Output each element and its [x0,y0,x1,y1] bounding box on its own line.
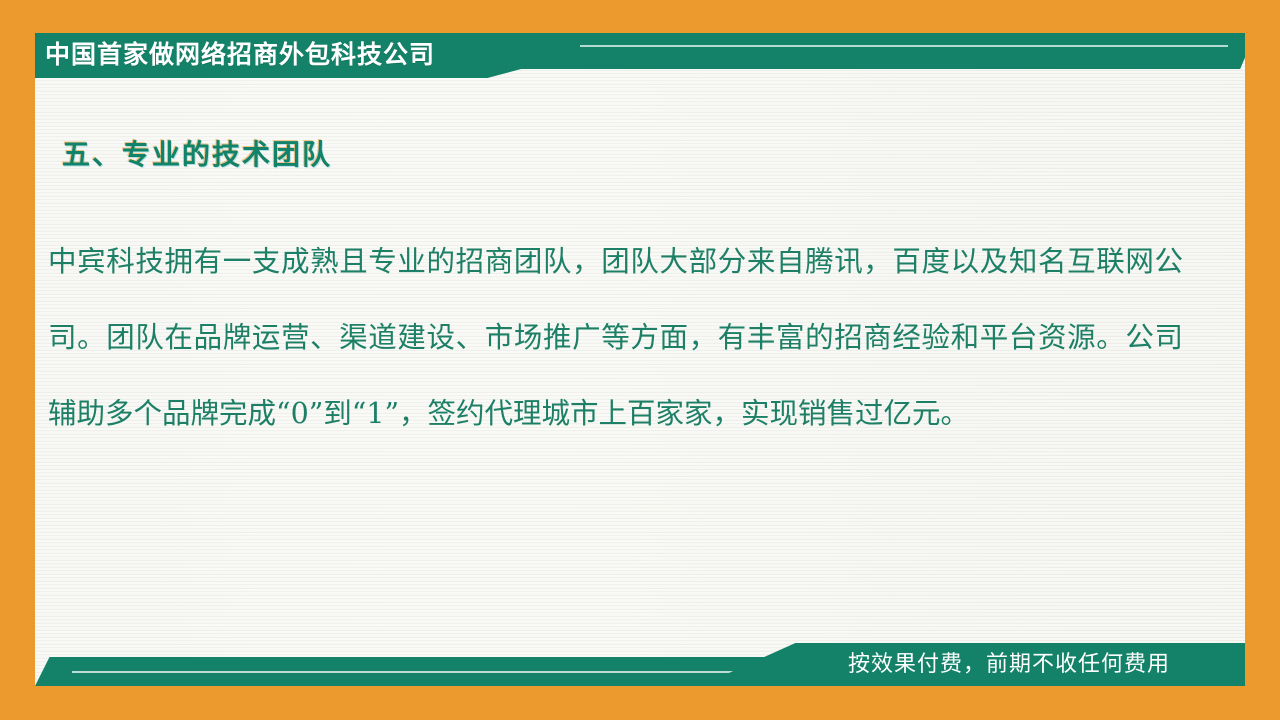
slide-border-bottom [0,686,1280,720]
presentation-slide: 中国首家做网络招商外包科技公司 五、专业的技术团队 中宾科技拥有一支成熟且专业的… [0,0,1280,720]
section-heading: 五、专业的技术团队 [62,133,332,173]
body-paragraph: 中宾科技拥有一支成熟且专业的招商团队，团队大部分来自腾讯，百度以及知名互联网公司… [48,224,1183,452]
slide-border-top [0,0,1280,33]
slide-border-right [1245,0,1280,720]
slide-border-left [0,0,35,720]
